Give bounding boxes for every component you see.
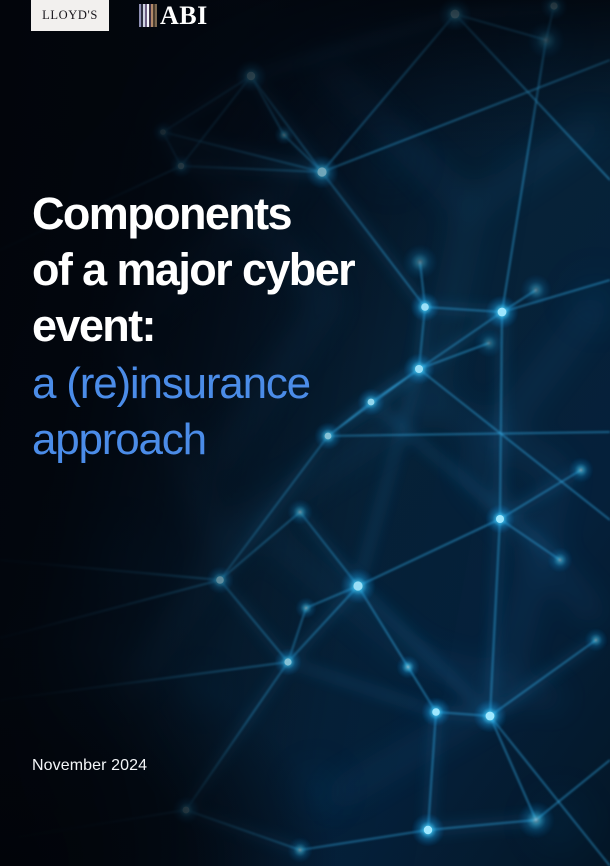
lloyds-logo: LLOYD'S <box>31 0 109 31</box>
report-cover: LLOYD'S ABI Components of a major cyber … <box>0 0 610 866</box>
page-title-line-2: of a major cyber <box>32 242 462 298</box>
page-subtitle-line-1: a (re)insurance <box>32 356 462 412</box>
cover-title-block: Components of a major cyber event: a (re… <box>32 186 462 468</box>
cover-subtitle-block: a (re)insurance approach <box>32 356 462 468</box>
lloyds-wordmark: LLOYD'S <box>42 9 98 22</box>
logo-bar: LLOYD'S ABI <box>0 0 208 31</box>
page-subtitle-line-2: approach <box>32 412 462 468</box>
page-title-line-3: event: <box>32 298 462 354</box>
abi-logo: ABI <box>139 4 208 27</box>
abi-bars-icon <box>139 4 157 27</box>
abi-wordmark: ABI <box>160 4 208 27</box>
page-title-line-1: Components <box>32 186 462 242</box>
publication-date: November 2024 <box>32 757 147 775</box>
